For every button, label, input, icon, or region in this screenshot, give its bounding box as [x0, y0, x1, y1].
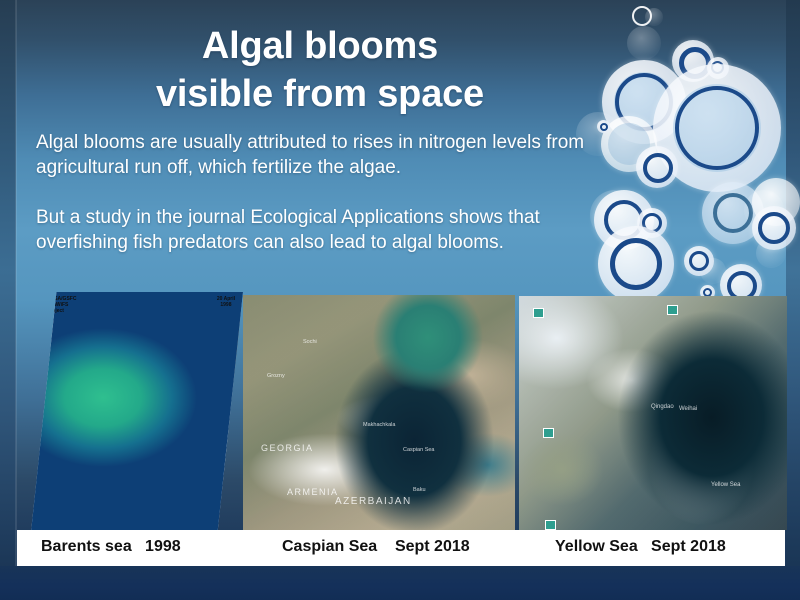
- photo-credit-left: NASA/GSFC SeaWiFS Project: [47, 296, 76, 314]
- bubble-inner-ring: [713, 193, 753, 233]
- bottom-band: [0, 566, 800, 600]
- bubble: [672, 40, 714, 82]
- map-marker-tile: [543, 428, 554, 438]
- bubble-inner-ring: [675, 86, 759, 170]
- map-label-baku: Baku: [413, 487, 426, 493]
- bubble-tiny: [684, 246, 714, 276]
- slide-title: Algal blooms visible from space: [40, 22, 600, 118]
- right-edge-band: [786, 0, 800, 600]
- bubble-inner-ring: [642, 213, 662, 233]
- soft-blob: [700, 258, 726, 284]
- map-label-yellow-sea: Yellow Sea: [711, 482, 740, 488]
- map-label-qingdao: Qingdao: [651, 404, 674, 410]
- map-label-grozny: Grozny: [267, 373, 285, 379]
- yellow-sea-photo: Qingdao Yellow Sea Weihai: [519, 296, 787, 530]
- bubble: [707, 57, 729, 79]
- map-label-georgia: GEORGIA: [261, 443, 314, 453]
- body-paragraph-1: Algal blooms are usually attributed to r…: [36, 130, 596, 180]
- caspian-sea-photo: GEORGIA ARMENIA AZERBAIJAN Caspian Sea M…: [243, 295, 515, 531]
- paragraph-spacer: [36, 180, 596, 205]
- bubble-large: [653, 64, 781, 192]
- bubble: [598, 226, 674, 302]
- bubble-inner-ring: [643, 153, 673, 183]
- map-label-makhachkala: Makhachkala: [363, 422, 395, 428]
- caption-barents-sea: Barents sea 1998: [41, 538, 181, 556]
- bubble-ring-small: [632, 6, 652, 26]
- map-label-armenia: ARMENIA: [287, 487, 339, 497]
- photo-strip: NASA/GSFC SeaWiFS Project 20 April 1998 …: [17, 292, 785, 568]
- soft-blob: [645, 8, 663, 26]
- bubble-inner-ring: [604, 200, 644, 240]
- bubble-inner-ring: [679, 47, 711, 79]
- soft-blob: [627, 26, 661, 60]
- photo-credit-right: 20 April 1998: [217, 296, 235, 308]
- soft-blob: [756, 238, 786, 268]
- caption-yellow-sea: Yellow Sea Sept 2018: [555, 538, 726, 556]
- bubble: [702, 182, 764, 244]
- bubble-tiny: [597, 120, 610, 133]
- map-marker-tile: [667, 305, 678, 315]
- bubble-inner-fill: [614, 72, 674, 132]
- bubble-inner-ring: [689, 251, 709, 271]
- bubble-inner-ring: [711, 61, 724, 74]
- bubble: [636, 146, 678, 188]
- map-label-caspian-sea: Caspian Sea: [403, 447, 435, 453]
- bubble-inner-fill: [608, 123, 650, 165]
- map-marker-tile: [545, 520, 556, 530]
- map-label-azerbaijan: AZERBAIJAN: [335, 496, 412, 507]
- bubble-inner-ring: [600, 123, 608, 131]
- bubble-tiny: [637, 208, 667, 238]
- soft-blob: [744, 190, 784, 230]
- slide-body: Algal blooms are usually attributed to r…: [36, 130, 596, 255]
- bubble: [602, 60, 686, 144]
- barents-sea-photo: NASA/GSFC SeaWiFS Project 20 April 1998: [31, 292, 243, 532]
- bubble: [601, 116, 657, 172]
- body-paragraph-2: But a study in the journal Ecological Ap…: [36, 205, 596, 255]
- map-label-sochi: Sochi: [303, 339, 317, 345]
- slide-canvas: Algal blooms visible from space Algal bl…: [0, 0, 800, 600]
- bubble-inner-fill: [673, 84, 761, 172]
- map-marker-tile: [533, 308, 544, 318]
- caption-caspian-sea: Caspian Sea Sept 2018: [282, 538, 470, 556]
- caption-bar: Barents sea 1998 Caspian Sea Sept 2018 Y…: [17, 530, 785, 568]
- bubble-inner-ring: [615, 73, 673, 131]
- left-edge-band: [0, 0, 16, 600]
- soft-blob: [590, 190, 640, 240]
- bubble: [594, 190, 654, 250]
- map-label-weihai: Weihai: [679, 406, 697, 412]
- bubble-inner-ring: [610, 238, 662, 290]
